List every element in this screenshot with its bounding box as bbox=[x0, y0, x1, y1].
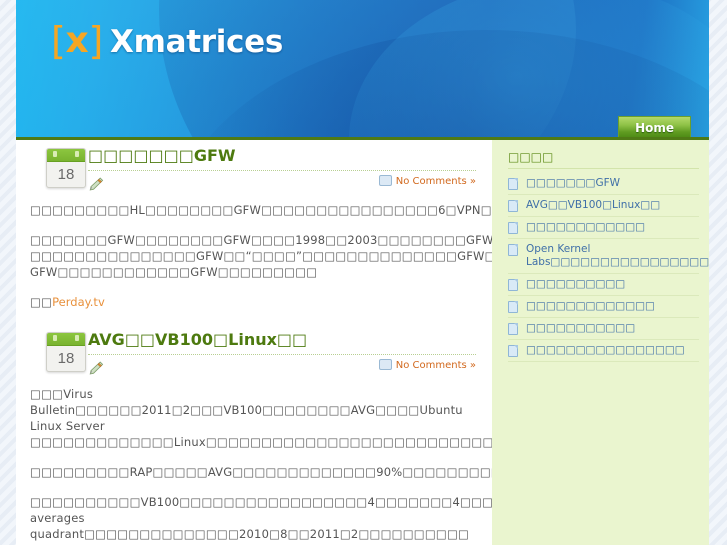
post-title-link[interactable]: AVG□□VB100□Linux□□ bbox=[88, 330, 307, 349]
calendar-icon: 18 bbox=[46, 148, 86, 188]
post-comments-link[interactable]: No Comments » bbox=[379, 359, 476, 371]
list-item[interactable]: Open Kernel Labs□□□□□□□□□□□□□□□□□ bbox=[508, 239, 699, 274]
sidebar-post-link[interactable]: □□□□□□□□□□□□□ bbox=[526, 300, 655, 312]
document-icon bbox=[508, 244, 518, 256]
post-paragraph: □□□□□□□□□HL□□□□□□□□GFW□□□□□□□□□□□□□□□□6□… bbox=[30, 202, 476, 218]
site-header: [x]Xmatrices Home bbox=[16, 0, 709, 140]
post-body: □□□□□□□□□HL□□□□□□□□GFW□□□□□□□□□□□□□□□□6□… bbox=[30, 196, 478, 310]
sidebar-post-link[interactable]: AVG□□VB100□Linux□□ bbox=[526, 199, 660, 211]
list-item[interactable]: □□□□□□□GFW bbox=[508, 173, 699, 195]
logo-wordmark: Xmatrices bbox=[110, 24, 283, 60]
document-icon bbox=[508, 200, 518, 212]
logo-bracket-left: [ bbox=[51, 19, 66, 63]
comments-label[interactable]: No Comments » bbox=[396, 360, 476, 371]
post-paragraph: □□□□□□□□□□VB100□□□□□□□□□□□□□□□□□4□□□□□□□… bbox=[30, 494, 476, 542]
comment-bubble-icon bbox=[379, 175, 392, 186]
site-logo[interactable]: [x]Xmatrices bbox=[51, 19, 283, 63]
post-title: □□□□□□□GFW bbox=[88, 146, 476, 170]
document-icon bbox=[508, 222, 518, 234]
recent-posts-widget: □□□□ □□□□□□□GFW AVG□□VB100□Linux□□ □□□□□… bbox=[492, 140, 709, 362]
document-icon bbox=[508, 279, 518, 291]
post-source-line: □□Perday.tv bbox=[30, 294, 476, 310]
calendar-ring-right bbox=[75, 335, 79, 341]
content-wrapper: 18 □□□□□□□GFW bbox=[16, 140, 709, 545]
post-meta: No Comments » bbox=[88, 358, 478, 380]
list-item[interactable]: □□□□□□□□□□□□□□□□ bbox=[508, 340, 699, 362]
sidebar-post-list: □□□□□□□GFW AVG□□VB100□Linux□□ □□□□□□□□□□… bbox=[508, 173, 699, 362]
list-item[interactable]: AVG□□VB100□Linux□□ bbox=[508, 195, 699, 217]
sidebar-post-link[interactable]: Open Kernel Labs□□□□□□□□□□□□□□□□□ bbox=[526, 243, 709, 268]
sidebar-post-link[interactable]: □□□□□□□□□□□□□□□□ bbox=[526, 344, 685, 356]
post-article: 18 AVG□□VB100□Linux□□ bbox=[16, 324, 492, 545]
post-header: 18 □□□□□□□GFW bbox=[30, 140, 478, 196]
sidebar-post-link[interactable]: □□□□□□□□□□□ bbox=[526, 322, 635, 334]
list-item[interactable]: □□□□□□□□□□□□□ bbox=[508, 296, 699, 318]
calendar-ring-left bbox=[53, 335, 57, 341]
post-paragraph: □□□□□□□GFW□□□□□□□□GFW□□□□1998□□2003□□□□□… bbox=[30, 232, 476, 280]
document-icon bbox=[508, 323, 518, 335]
main-navigation: Home bbox=[618, 116, 691, 138]
list-item[interactable]: □□□□□□□□□□□□ bbox=[508, 217, 699, 239]
comments-label[interactable]: No Comments » bbox=[396, 176, 476, 187]
pencil-icon bbox=[88, 176, 104, 190]
calendar-ring-left bbox=[53, 151, 57, 157]
comment-bubble-icon bbox=[379, 359, 392, 370]
post-comments-link[interactable]: No Comments » bbox=[379, 175, 476, 187]
post-title-link[interactable]: □□□□□□□GFW bbox=[88, 146, 236, 165]
sidebar-widget-title: □□□□ bbox=[508, 150, 699, 169]
post-paragraph: □□□□□□□□□RAP□□□□□AVG□□□□□□□□□□□□□90%□□□□… bbox=[30, 464, 476, 480]
calendar-icon-top bbox=[47, 149, 85, 162]
pencil-icon bbox=[88, 360, 104, 374]
post-header: 18 AVG□□VB100□Linux□□ bbox=[30, 324, 478, 380]
header-bottom-rule bbox=[16, 137, 709, 140]
post-title-rule: AVG□□VB100□Linux□□ bbox=[88, 330, 476, 355]
source-link[interactable]: Perday.tv bbox=[52, 295, 105, 309]
main-content: 18 □□□□□□□GFW bbox=[16, 140, 492, 545]
post-article: 18 □□□□□□□GFW bbox=[16, 140, 492, 310]
document-icon bbox=[508, 178, 518, 190]
logo-letter-x: x bbox=[66, 20, 89, 61]
source-prefix: □□ bbox=[30, 295, 52, 309]
calendar-icon-top bbox=[47, 333, 85, 346]
post-date-day: 18 bbox=[47, 162, 85, 187]
logo-bracket-right: ] bbox=[88, 19, 103, 63]
post-body: □□□Virus Bulletin□□□□□□2011□2□□□VB100□□□… bbox=[30, 380, 478, 545]
nav-item-home[interactable]: Home bbox=[618, 116, 691, 138]
document-icon bbox=[508, 301, 518, 313]
sidebar: □□□□ □□□□□□□GFW AVG□□VB100□Linux□□ □□□□□… bbox=[492, 140, 709, 545]
sidebar-post-link[interactable]: □□□□□□□□□□ bbox=[526, 278, 625, 290]
post-title-rule: □□□□□□□GFW bbox=[88, 146, 476, 171]
list-item[interactable]: □□□□□□□□□□□ bbox=[508, 318, 699, 340]
post-meta: No Comments » bbox=[88, 174, 478, 196]
post-title: AVG□□VB100□Linux□□ bbox=[88, 330, 476, 354]
sidebar-post-link[interactable]: □□□□□□□GFW bbox=[526, 177, 620, 189]
page-container: [x]Xmatrices Home 18 bbox=[16, 0, 709, 545]
sidebar-post-link[interactable]: □□□□□□□□□□□□ bbox=[526, 221, 645, 233]
post-paragraph: □□□Virus Bulletin□□□□□□2011□2□□□VB100□□□… bbox=[30, 386, 476, 450]
post-date-day: 18 bbox=[47, 346, 85, 371]
calendar-ring-right bbox=[75, 151, 79, 157]
list-item[interactable]: □□□□□□□□□□ bbox=[508, 274, 699, 296]
document-icon bbox=[508, 345, 518, 357]
calendar-icon: 18 bbox=[46, 332, 86, 372]
